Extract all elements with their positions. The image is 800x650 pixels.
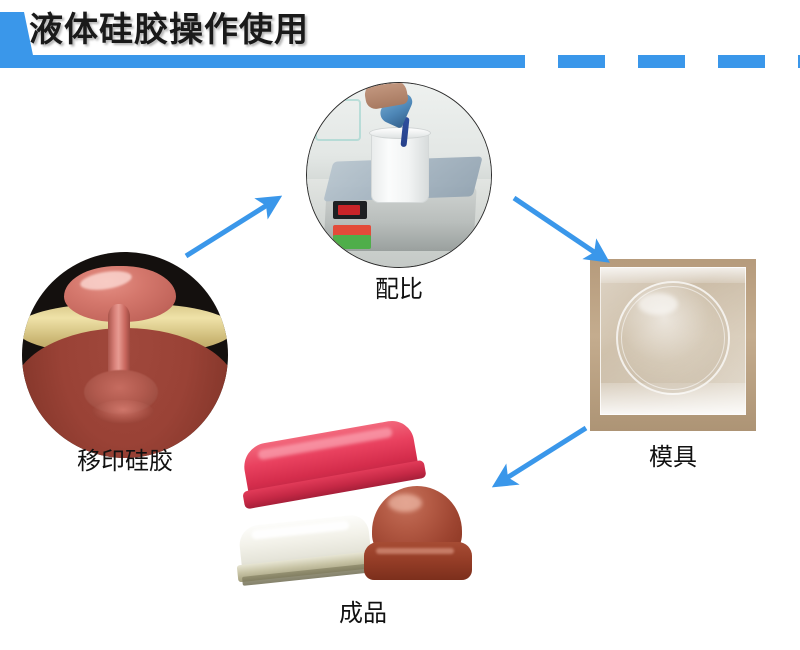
flow-step-mixing[interactable]: [306, 82, 492, 268]
finished-pad-dome-shape: [364, 486, 472, 586]
flow-step-products[interactable]: [228, 428, 498, 594]
pour-ripple-shape: [92, 400, 154, 424]
flow-step-caption-mold: 模具: [590, 442, 756, 472]
measuring-cup-rim-shape: [369, 127, 431, 139]
flow-step-caption-silicone: 移印硅胶: [22, 446, 228, 476]
hemisphere-cavity-gloss-shape: [638, 293, 678, 315]
arrow-silicone-to-mixing: [186, 202, 272, 256]
header-rule-dashed: [478, 55, 800, 68]
dome-pad-gloss-shape: [388, 494, 422, 512]
arrow-mixing-to-mold: [514, 198, 600, 256]
flow-step-caption-mixing: 配比: [306, 274, 492, 304]
acrylic-hemisphere-mold-photo: [590, 259, 756, 431]
weighing-scale-mixing-photo: [306, 82, 492, 268]
pad-printing-silicone-photo: [22, 252, 228, 458]
scale-keypad-green-shape: [333, 235, 371, 249]
flow-step-silicone[interactable]: [22, 252, 228, 458]
finished-pad-white-shape: [233, 513, 382, 597]
flow-step-mold[interactable]: [590, 259, 756, 431]
header-rule-solid: [0, 55, 478, 68]
page-header: 液体硅胶操作使用: [0, 0, 800, 78]
scale-display-shape: [333, 201, 367, 219]
arrow-mold-to-products: [502, 428, 586, 481]
flow-step-caption-products: 成品: [228, 598, 498, 628]
wall-panel-shape: [315, 99, 361, 141]
dome-pad-skirt-gloss-shape: [376, 548, 454, 554]
page-root: 液体硅胶操作使用 移印硅胶: [0, 0, 800, 650]
page-title: 液体硅胶操作使用: [29, 8, 309, 52]
